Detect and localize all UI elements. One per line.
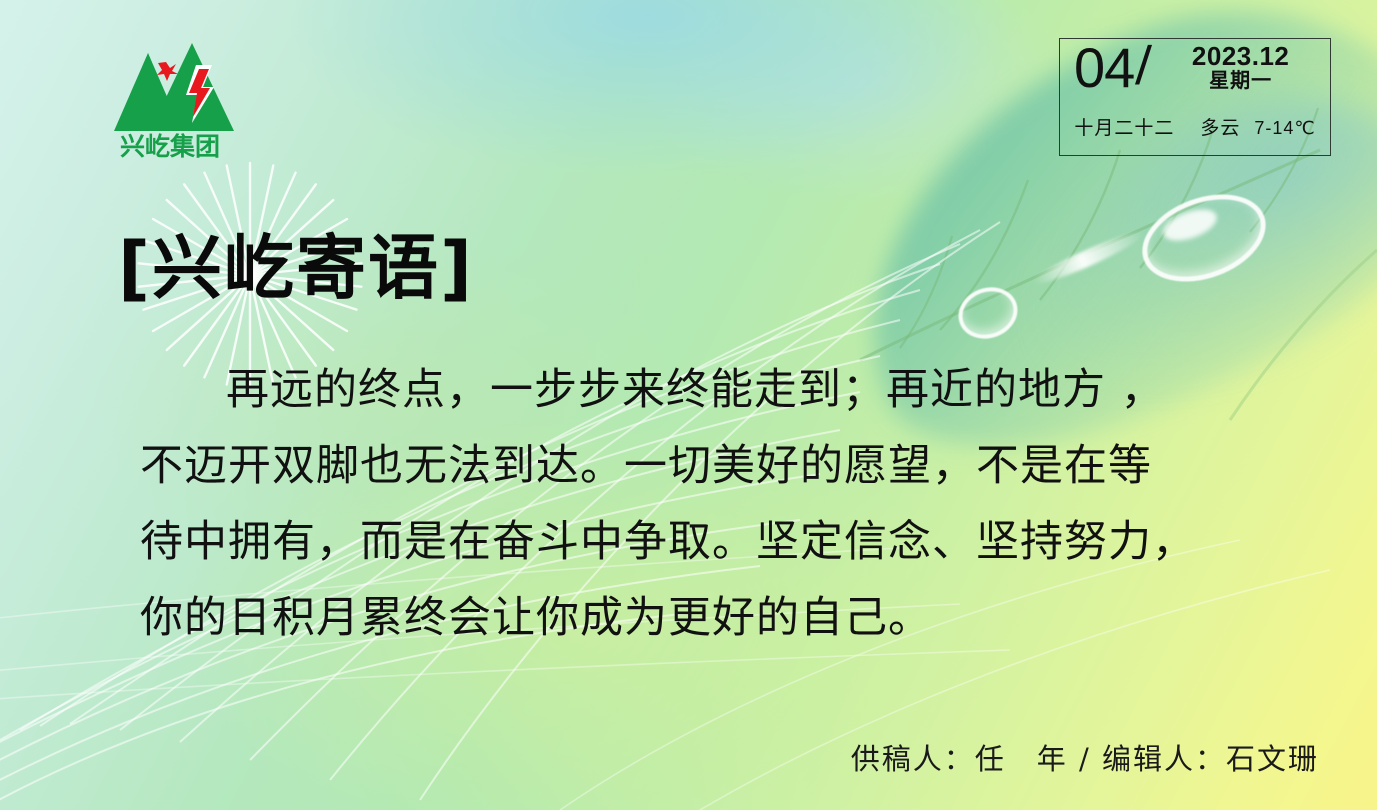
date-card: 04 / 2023.12 星期一 十月二十二 多云 7-14℃ — [1059, 38, 1331, 156]
date-card-top: 04 / 2023.12 星期一 — [1060, 39, 1330, 115]
date-year-week-group: 2023.12 星期一 — [1159, 43, 1322, 93]
body-line: 你的日积月累终会让你成为更好的自己。 — [140, 580, 1300, 656]
credits-line: 供稿人：任 年 / 编辑人：石文珊 — [851, 736, 1319, 778]
date-year-month: 2023.12 — [1192, 43, 1289, 70]
body-line: 再远的终点，一步步来终能走到；再近的地方 ， — [140, 352, 1300, 428]
date-separator: / — [1135, 39, 1153, 93]
weather-temperature: 7-14℃ — [1254, 118, 1315, 139]
weather-group: 多云 7-14℃ — [1200, 113, 1315, 140]
date-card-bottom: 十月二十二 多云 7-14℃ — [1060, 113, 1330, 140]
body-line: 待中拥有，而是在奋斗中争取。坚定信念、坚持努力， — [140, 504, 1300, 580]
body-line: 不迈开双脚也无法到达。一切美好的愿望，不是在等 — [140, 428, 1300, 504]
weather-condition: 多云 — [1200, 113, 1240, 140]
page-title: [兴屹寄语] — [118, 212, 474, 313]
logo-wordmark: 兴屹集团 — [120, 132, 220, 160]
message-body: 再远的终点，一步步来终能走到；再近的地方 ， 不迈开双脚也无法到达。一切美好的愿… — [140, 352, 1300, 656]
logo-mark-icon: 兴屹集团 — [100, 35, 240, 160]
date-lunar: 十月二十二 — [1074, 113, 1174, 140]
company-logo: 兴屹集团 — [100, 35, 240, 160]
poster-canvas: 兴屹集团 04 / 2023.12 星期一 十月二十二 多云 7-14℃ [兴屹… — [0, 0, 1377, 810]
date-day: 04 — [1074, 41, 1134, 95]
date-weekday: 星期一 — [1209, 70, 1272, 93]
star-icon — [157, 62, 178, 81]
